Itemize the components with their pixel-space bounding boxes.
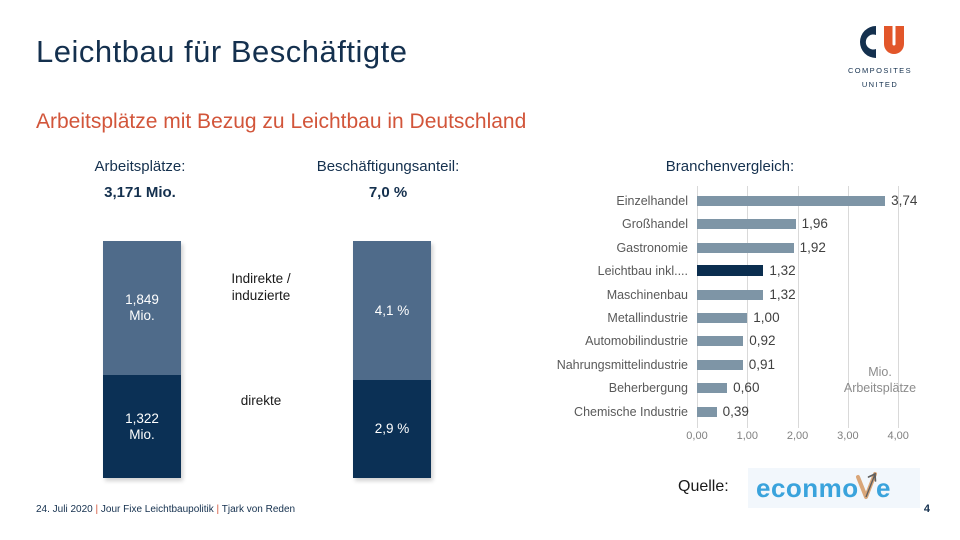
stacked-segment-direct-share: 2,9 % (353, 380, 431, 478)
chart-category-label: Beherbergung (520, 377, 688, 399)
chart-value-label: 1,32 (769, 260, 795, 282)
chart-value-label: 0,92 (749, 330, 775, 352)
source-label: Quelle: (678, 478, 729, 496)
stacked-bar-jobs: 1,849 Mio. 1,322 Mio. (103, 241, 181, 478)
slide-canvas: Leichtbau für Beschäftigte Arbeitsplätze… (0, 0, 960, 540)
chart-value-label: 0,91 (749, 354, 775, 376)
chart-bar (697, 313, 747, 323)
chart-x-tick-label: 1,00 (737, 430, 758, 442)
chart-category-label: Einzelhandel (520, 190, 688, 212)
footer-author: Tjark von Reden (222, 504, 295, 515)
chart-bar-row: Großhandel1,96 (520, 213, 940, 235)
page-title: Leichtbau für Beschäftigte (36, 34, 407, 70)
econmove-logo: econmo e (748, 468, 920, 508)
chart-category-label: Großhandel (520, 213, 688, 235)
legend-label-direct: direkte (196, 392, 326, 409)
footer-separator-1: | (96, 504, 99, 515)
chart-category-label: Metallindustrie (520, 307, 688, 329)
chart-x-tick-label: 3,00 (837, 430, 858, 442)
chart-axis-unit-label: Mio. Arbeitsplätze (820, 364, 940, 396)
composites-united-logo: COMPOSITES UNITED (834, 22, 926, 94)
chart-value-label: 1,92 (800, 237, 826, 259)
share-total-value: 7,0 % (278, 184, 498, 201)
chart-bar (697, 360, 743, 370)
branch-comparison-chart: Einzelhandel3,74Großhandel1,96Gastronomi… (520, 186, 940, 446)
chart-bar-row: Automobilindustrie0,92 (520, 330, 940, 352)
chart-bar (697, 219, 796, 229)
chart-value-label: 1,96 (802, 213, 828, 235)
chart-bar (697, 243, 794, 253)
jobs-total-value: 3,171 Mio. (40, 184, 240, 201)
logo-caption-line2: UNITED (834, 79, 926, 90)
chart-category-label: Gastronomie (520, 237, 688, 259)
footer-date: 24. Juli 2020 (36, 504, 93, 515)
chart-bar-row: Leichtbau inkl....1,32 (520, 260, 940, 282)
chart-bar (697, 265, 763, 276)
stacked-segment-direct-jobs: 1,322 Mio. (103, 375, 181, 478)
footer-event: Jour Fixe Leichtbaupolitik (101, 504, 214, 515)
page-subtitle: Arbeitsplätze mit Bezug zu Leichtbau in … (36, 110, 526, 134)
stacked-bar-share: 4,1 % 2,9 % (353, 241, 431, 478)
chart-category-label: Nahrungsmittelindustrie (520, 354, 688, 376)
chart-category-label: Maschinenbau (520, 284, 688, 306)
chart-category-label: Leichtbau inkl.... (520, 260, 688, 282)
chart-bar (697, 290, 763, 300)
stacked-segment-indirect-share: 4,1 % (353, 241, 431, 380)
chart-value-label: 3,74 (891, 190, 917, 212)
chart-value-label: 1,32 (769, 284, 795, 306)
chart-bar (697, 336, 743, 346)
chart-value-label: 1,00 (753, 307, 779, 329)
chart-x-tick-label: 2,00 (787, 430, 808, 442)
share-column-heading: Beschäftigungsanteil: (278, 158, 498, 175)
page-number: 4 (924, 503, 930, 515)
svg-text:econmo: econmo (756, 473, 859, 503)
footer-bar: 24. Juli 2020 | Jour Fixe Leichtbaupolit… (36, 504, 295, 515)
chart-bar (697, 196, 885, 206)
chart-value-label: 0,60 (733, 377, 759, 399)
chart-category-label: Automobilindustrie (520, 330, 688, 352)
logo-caption-line1: COMPOSITES (834, 65, 926, 76)
chart-bar-row: Gastronomie1,92 (520, 237, 940, 259)
branch-column-heading: Branchenvergleich: (560, 158, 900, 175)
chart-bar-row: Einzelhandel3,74 (520, 190, 940, 212)
cu-mark-icon (834, 22, 926, 62)
chart-x-tick-label: 0,00 (686, 430, 707, 442)
chart-bar (697, 407, 717, 417)
chart-x-tick-label: 4,00 (887, 430, 908, 442)
chart-value-label: 0,39 (723, 401, 749, 423)
legend-label-indirect: Indirekte / induzierte (196, 270, 326, 304)
chart-bar-row: Chemische Industrie0,39 (520, 401, 940, 423)
chart-bar-row: Metallindustrie1,00 (520, 307, 940, 329)
chart-bar (697, 383, 727, 393)
footer-separator-2: | (217, 504, 220, 515)
svg-text:e: e (876, 473, 890, 503)
jobs-column-heading: Arbeitsplätze: (40, 158, 240, 175)
chart-category-label: Chemische Industrie (520, 401, 688, 423)
stacked-segment-indirect-jobs: 1,849 Mio. (103, 241, 181, 375)
chart-bar-row: Maschinenbau1,32 (520, 284, 940, 306)
